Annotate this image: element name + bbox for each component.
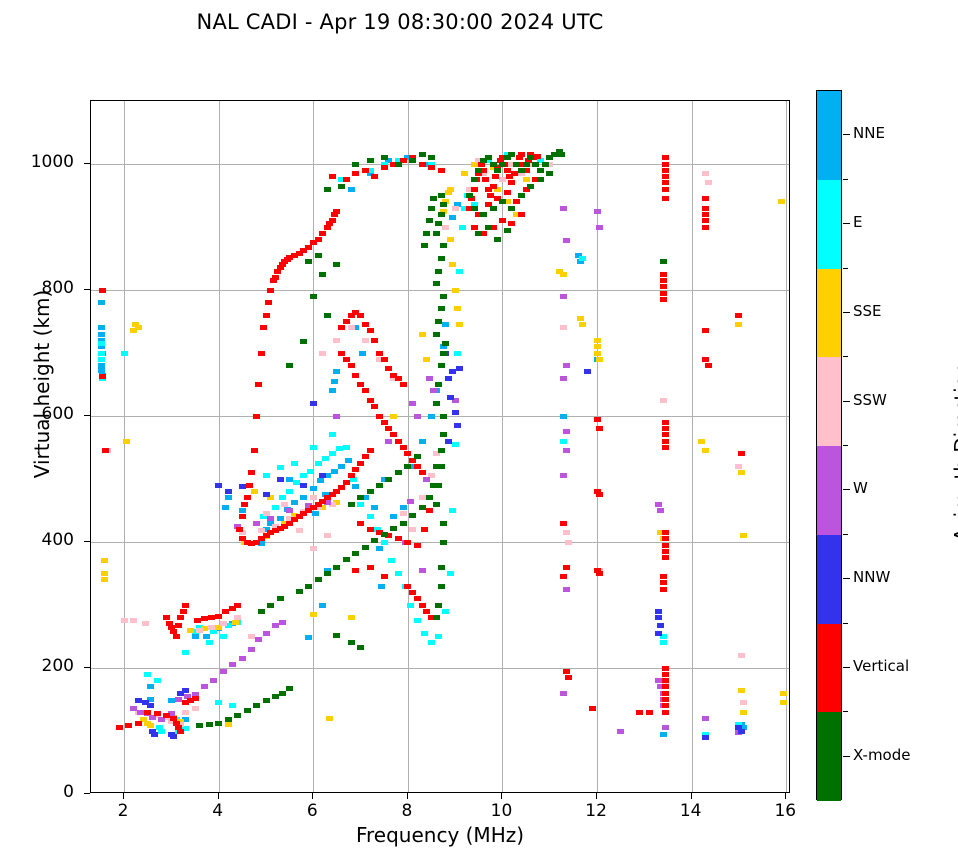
colorbar-category-label: NNW xyxy=(853,568,890,586)
scatter-point xyxy=(735,322,742,327)
scatter-point xyxy=(426,495,433,500)
scatter-point xyxy=(657,623,664,628)
scatter-point xyxy=(258,609,265,614)
scatter-point xyxy=(563,448,570,453)
colorbar-category-label: W xyxy=(853,479,868,497)
scatter-point xyxy=(225,722,232,727)
scatter-point xyxy=(291,500,298,505)
scatter-point xyxy=(447,187,454,192)
scatter-point xyxy=(400,511,407,516)
scatter-point xyxy=(310,546,317,551)
scatter-point xyxy=(182,688,189,693)
scatter-point xyxy=(662,174,669,179)
scatter-point xyxy=(456,366,463,371)
scatter-point xyxy=(263,698,270,703)
scatter-point xyxy=(381,574,388,579)
scatter-point xyxy=(101,558,108,563)
scatter-point xyxy=(378,584,385,589)
scatter-point xyxy=(208,615,215,620)
scatter-point xyxy=(419,603,426,608)
scatter-point xyxy=(348,502,355,507)
scatter-point xyxy=(404,584,411,589)
scatter-point xyxy=(296,589,303,594)
scatter-point xyxy=(471,206,478,211)
scatter-point xyxy=(461,171,468,176)
scatter-point xyxy=(426,218,433,223)
y-axis-tick-label: 200 xyxy=(14,656,74,676)
x-axis-tick xyxy=(785,793,786,799)
scatter-point xyxy=(315,461,322,466)
scatter-point xyxy=(702,218,709,223)
scatter-point xyxy=(440,540,447,545)
scatter-point xyxy=(239,484,246,489)
scatter-point xyxy=(499,177,506,182)
scatter-point xyxy=(594,338,601,343)
scatter-point xyxy=(546,171,553,176)
scatter-point xyxy=(426,376,433,381)
scatter-point xyxy=(222,609,229,614)
scatter-point xyxy=(265,300,272,305)
scatter-point xyxy=(662,432,669,437)
scatter-point xyxy=(442,322,449,327)
scatter-point xyxy=(400,382,407,387)
scatter-point xyxy=(419,568,426,573)
scatter-point xyxy=(253,703,260,708)
scatter-point xyxy=(147,684,154,689)
scatter-point xyxy=(296,528,303,533)
x-axis-tick-label: 12 xyxy=(566,801,626,821)
scatter-point xyxy=(305,245,312,250)
y-axis-label: Virtual height (km) xyxy=(30,214,54,554)
scatter-point xyxy=(563,587,570,592)
scatter-point xyxy=(215,614,222,619)
scatter-point xyxy=(435,634,442,639)
colorbar-tick xyxy=(843,578,850,579)
scatter-point xyxy=(225,489,232,494)
scatter-point xyxy=(705,180,712,185)
scatter-point xyxy=(662,555,669,560)
scatter-point xyxy=(423,357,430,362)
scatter-point xyxy=(518,152,525,157)
scatter-point xyxy=(229,703,236,708)
scatter-point xyxy=(423,231,430,236)
scatter-point xyxy=(352,568,359,573)
scatter-point xyxy=(116,725,123,730)
scatter-point xyxy=(324,187,331,192)
scatter-point xyxy=(404,464,411,469)
scatter-point xyxy=(248,634,255,639)
scatter-point xyxy=(456,322,463,327)
scatter-point xyxy=(485,155,492,160)
scatter-point xyxy=(381,357,388,362)
scatter-point xyxy=(404,451,411,456)
scatter-point xyxy=(400,521,407,526)
scatter-point xyxy=(315,237,322,242)
scatter-point xyxy=(698,439,705,444)
scatter-point xyxy=(98,357,105,362)
scatter-point xyxy=(317,478,324,483)
x-axis-tick-label: 4 xyxy=(188,801,248,821)
scatter-point xyxy=(144,710,151,715)
scatter-point xyxy=(560,206,567,211)
scatter-point xyxy=(371,505,378,510)
scatter-point xyxy=(215,721,222,726)
scatter-point xyxy=(194,618,201,623)
scatter-point xyxy=(702,206,709,211)
colorbar-segment xyxy=(817,535,841,624)
scatter-point xyxy=(662,666,669,671)
scatter-point xyxy=(435,382,442,387)
scatter-point xyxy=(563,363,570,368)
scatter-point xyxy=(99,288,106,293)
scatter-point xyxy=(279,620,286,625)
scatter-point xyxy=(508,152,515,157)
scatter-point xyxy=(560,473,567,478)
scatter-point xyxy=(435,319,442,324)
scatter-point xyxy=(98,341,105,346)
scatter-point xyxy=(343,319,350,324)
scatter-point xyxy=(333,489,340,494)
scatter-point xyxy=(151,732,158,737)
scatter-point xyxy=(655,631,662,636)
scatter-point xyxy=(662,549,669,554)
scatter-point xyxy=(371,538,378,543)
scatter-point xyxy=(390,432,397,437)
scatter-point xyxy=(158,729,165,734)
scatter-point xyxy=(348,187,355,192)
scatter-point xyxy=(440,432,447,437)
scatter-point xyxy=(362,454,369,459)
scatter-point xyxy=(702,196,709,201)
colorbar-tick xyxy=(843,223,850,224)
scatter-point xyxy=(395,571,402,576)
scatter-point xyxy=(499,199,506,204)
scatter-point xyxy=(251,448,258,453)
scatter-point xyxy=(362,338,369,343)
scatter-point xyxy=(154,678,161,683)
scatter-point xyxy=(236,527,243,532)
scatter-point xyxy=(135,721,142,726)
scatter-point xyxy=(315,253,322,258)
scatter-point xyxy=(196,723,203,728)
x-axis-tick-label: 6 xyxy=(282,801,342,821)
scatter-point xyxy=(594,417,601,422)
scatter-point xyxy=(660,278,667,283)
colorbar-tick xyxy=(843,134,850,135)
scatter-point xyxy=(435,603,442,608)
scatter-point xyxy=(438,212,445,217)
figure-root: NAL CADI - Apr 19 08:30:00 2024 UTC 2468… xyxy=(0,0,958,857)
scatter-point xyxy=(430,196,437,201)
scatter-point xyxy=(428,155,435,160)
scatter-point xyxy=(660,580,667,585)
scatter-point xyxy=(414,596,421,601)
scatter-point xyxy=(560,325,567,330)
scatter-point xyxy=(239,508,246,513)
scatter-point xyxy=(182,603,189,608)
scatter-point xyxy=(253,414,260,419)
scatter-point xyxy=(560,439,567,444)
scatter-point xyxy=(343,480,350,485)
scatter-point xyxy=(433,615,440,620)
scatter-point xyxy=(357,502,364,507)
scatter-point xyxy=(329,432,336,437)
scatter-point xyxy=(662,684,669,689)
scatter-point xyxy=(414,414,421,419)
scatter-point xyxy=(98,332,105,337)
scatter-point xyxy=(244,708,251,713)
x-axis-tick xyxy=(501,793,502,799)
scatter-point xyxy=(537,168,544,173)
scatter-point xyxy=(203,634,210,639)
scatter-point xyxy=(277,596,284,601)
scatter-point xyxy=(241,502,248,507)
scatter-point xyxy=(445,439,452,444)
scatter-point xyxy=(537,177,544,182)
scatter-point xyxy=(660,732,667,737)
scatter-point xyxy=(662,155,669,160)
scatter-point xyxy=(660,398,667,403)
scatter-point xyxy=(421,243,428,248)
scatter-point xyxy=(414,618,421,623)
scatter-point xyxy=(319,231,326,236)
scatter-point xyxy=(485,225,492,230)
scatter-point xyxy=(560,414,567,419)
scatter-point xyxy=(371,174,378,179)
colorbar-tick xyxy=(843,312,850,313)
scatter-point xyxy=(508,206,515,211)
colorbar-label: Azimuth Direction xyxy=(950,282,958,622)
scatter-point xyxy=(435,269,442,274)
scatter-point xyxy=(440,294,447,299)
scatter-point xyxy=(371,338,378,343)
scatter-point xyxy=(331,469,338,474)
scatter-point xyxy=(447,237,454,242)
scatter-point xyxy=(735,464,742,469)
scatter-point xyxy=(376,351,383,356)
scatter-point xyxy=(449,508,456,513)
scatter-point xyxy=(662,426,669,431)
scatter-point xyxy=(300,473,307,478)
scatter-point xyxy=(662,168,669,173)
scatter-point xyxy=(440,202,447,207)
scatter-point xyxy=(338,325,345,330)
scatter-point xyxy=(329,388,336,393)
scatter-point xyxy=(702,171,709,176)
scatter-point xyxy=(246,483,253,488)
scatter-point xyxy=(438,448,445,453)
scatter-point xyxy=(348,615,355,620)
scatter-point xyxy=(293,480,300,485)
scatter-point xyxy=(778,199,785,204)
scatter-point xyxy=(385,366,392,371)
scatter-point xyxy=(98,325,105,330)
scatter-point xyxy=(168,698,175,703)
colorbar-boundary-tick xyxy=(843,711,848,712)
scatter-point xyxy=(409,513,416,518)
scatter-point xyxy=(322,456,329,461)
scatter-point xyxy=(499,162,506,167)
scatter-point xyxy=(343,177,350,182)
scatter-point xyxy=(338,485,345,490)
scatter-point xyxy=(740,710,747,715)
colorbar-category-label: X-mode xyxy=(853,746,910,764)
scatter-point xyxy=(660,259,667,264)
scatter-point xyxy=(419,332,426,337)
scatter-point xyxy=(657,508,664,513)
scatter-point xyxy=(357,495,364,500)
scatter-point xyxy=(277,465,284,470)
colorbar-segment xyxy=(817,712,841,801)
scatter-point xyxy=(504,190,511,195)
scatter-point xyxy=(662,710,669,715)
scatter-point xyxy=(260,325,267,330)
scatter-point xyxy=(277,477,284,482)
scatter-point xyxy=(329,451,336,456)
scatter-point xyxy=(738,688,745,693)
scatter-point xyxy=(319,473,326,478)
scatter-point xyxy=(319,351,326,356)
scatter-point xyxy=(780,691,787,696)
scatter-point xyxy=(655,615,662,620)
scatter-point xyxy=(454,351,461,356)
colorbar-category-label: E xyxy=(853,213,862,231)
scatter-point xyxy=(518,193,525,198)
scatter-point xyxy=(220,634,227,639)
scatter-point xyxy=(518,212,525,217)
scatter-point xyxy=(440,521,447,526)
scatter-point xyxy=(660,587,667,592)
scatter-point xyxy=(440,243,447,248)
scatter-point xyxy=(527,184,534,189)
x-axis-tick xyxy=(596,793,597,799)
scatter-point xyxy=(655,502,662,507)
scatter-point xyxy=(312,511,319,516)
scatter-point xyxy=(362,545,369,550)
scatter-point xyxy=(357,313,364,318)
scatter-point xyxy=(471,187,478,192)
scatter-point xyxy=(101,571,108,576)
scatter-point xyxy=(362,168,369,173)
scatter-point xyxy=(215,483,222,488)
scatter-point xyxy=(253,521,260,526)
scatter-point xyxy=(333,338,340,343)
scatter-point xyxy=(596,225,603,230)
y-axis-tick xyxy=(84,793,90,794)
scatter-point xyxy=(272,275,279,280)
colorbar-boundary-tick xyxy=(843,445,848,446)
scatter-point xyxy=(319,272,326,277)
scatter-point xyxy=(655,678,662,683)
scatter-point xyxy=(395,536,402,541)
scatter-point xyxy=(367,527,374,532)
scatter-point xyxy=(577,316,584,321)
scatter-point xyxy=(504,168,511,173)
x-axis-tick xyxy=(407,793,408,799)
scatter-point xyxy=(315,577,322,582)
scatter-point xyxy=(125,723,132,728)
scatter-point xyxy=(333,262,340,267)
scatter-point xyxy=(307,469,314,474)
scatter-point xyxy=(279,495,286,500)
scatter-point xyxy=(388,558,395,563)
scatter-point xyxy=(560,691,567,696)
scatter-point xyxy=(357,521,364,526)
scatter-point xyxy=(449,369,456,374)
scatter-point xyxy=(438,168,445,173)
scatter-point xyxy=(291,461,298,466)
scatter-point xyxy=(596,426,603,431)
scatter-point xyxy=(381,540,388,545)
scatter-point xyxy=(442,341,449,346)
colorbar-segment xyxy=(817,180,841,269)
x-axis-tick-label: 14 xyxy=(661,801,721,821)
scatter-point xyxy=(272,505,279,510)
scatter-point xyxy=(173,634,180,639)
scatter-point xyxy=(348,640,355,645)
scatter-point xyxy=(263,492,270,497)
scatter-point xyxy=(655,609,662,614)
scatter-point xyxy=(251,489,258,494)
scatter-point xyxy=(385,439,392,444)
scatter-point xyxy=(662,445,669,450)
scatter-point xyxy=(400,505,407,510)
scatter-point xyxy=(426,508,433,513)
scatter-point xyxy=(336,446,343,451)
x-axis-tick xyxy=(312,793,313,799)
colorbar-segment xyxy=(817,269,841,358)
scatter-point xyxy=(449,262,456,267)
colorbar-boundary-tick xyxy=(843,179,848,180)
scatter-point xyxy=(170,734,177,739)
scatter-point xyxy=(596,492,603,497)
scatter-point xyxy=(201,616,208,621)
scatter-point xyxy=(414,454,421,459)
scatter-point xyxy=(452,442,459,447)
scatter-point xyxy=(381,165,388,170)
scatter-point xyxy=(343,557,350,562)
scatter-point xyxy=(433,332,440,337)
scatter-point xyxy=(343,445,350,450)
scatter-point xyxy=(305,635,312,640)
scatter-point xyxy=(404,540,411,545)
scatter-point xyxy=(560,376,567,381)
scatter-point xyxy=(244,495,251,500)
scatter-point xyxy=(348,325,355,330)
scatter-point xyxy=(471,177,478,182)
scatter-point xyxy=(780,700,787,705)
scatter-point xyxy=(459,225,466,230)
scatter-point xyxy=(508,221,515,226)
scatter-point xyxy=(414,464,421,469)
scatter-point xyxy=(395,439,402,444)
scatter-point xyxy=(210,678,217,683)
scatter-point xyxy=(255,382,262,387)
scatter-point xyxy=(352,467,359,472)
y-axis-tick xyxy=(84,415,90,416)
scatter-point xyxy=(352,162,359,167)
scatter-point xyxy=(310,401,317,406)
scatter-point xyxy=(490,206,497,211)
scatter-point xyxy=(357,645,364,650)
scatter-point xyxy=(738,653,745,658)
scatter-point xyxy=(300,339,307,344)
scatter-point xyxy=(662,536,669,541)
scatter-point xyxy=(263,473,270,478)
scatter-point xyxy=(636,710,643,715)
scatter-point xyxy=(702,448,709,453)
scatter-point xyxy=(267,603,274,608)
